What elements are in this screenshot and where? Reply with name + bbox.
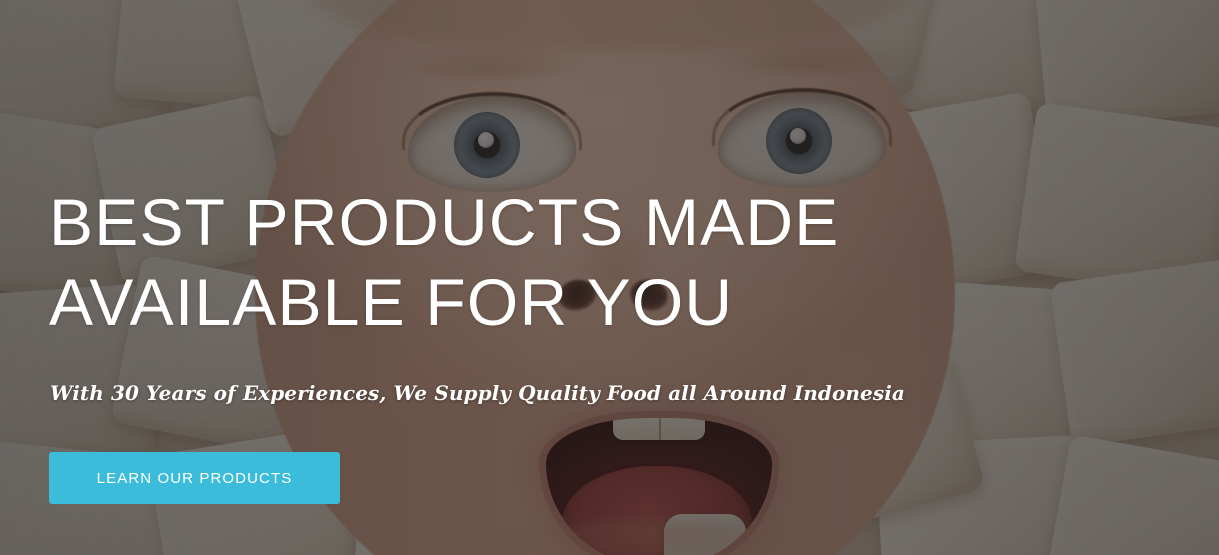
hero-subheadline: With 30 Years of Experiences, We Supply … [50, 381, 905, 405]
hero-section: BEST PRODUCTS MADE AVAILABLE FOR YOU Wit… [0, 0, 1219, 555]
page-title: BEST PRODUCTS MADE AVAILABLE FOR YOU [49, 182, 840, 342]
learn-our-products-button[interactable]: LEARN OUR PRODUCTS [49, 452, 340, 504]
hero-content: BEST PRODUCTS MADE AVAILABLE FOR YOU Wit… [49, 0, 1179, 555]
